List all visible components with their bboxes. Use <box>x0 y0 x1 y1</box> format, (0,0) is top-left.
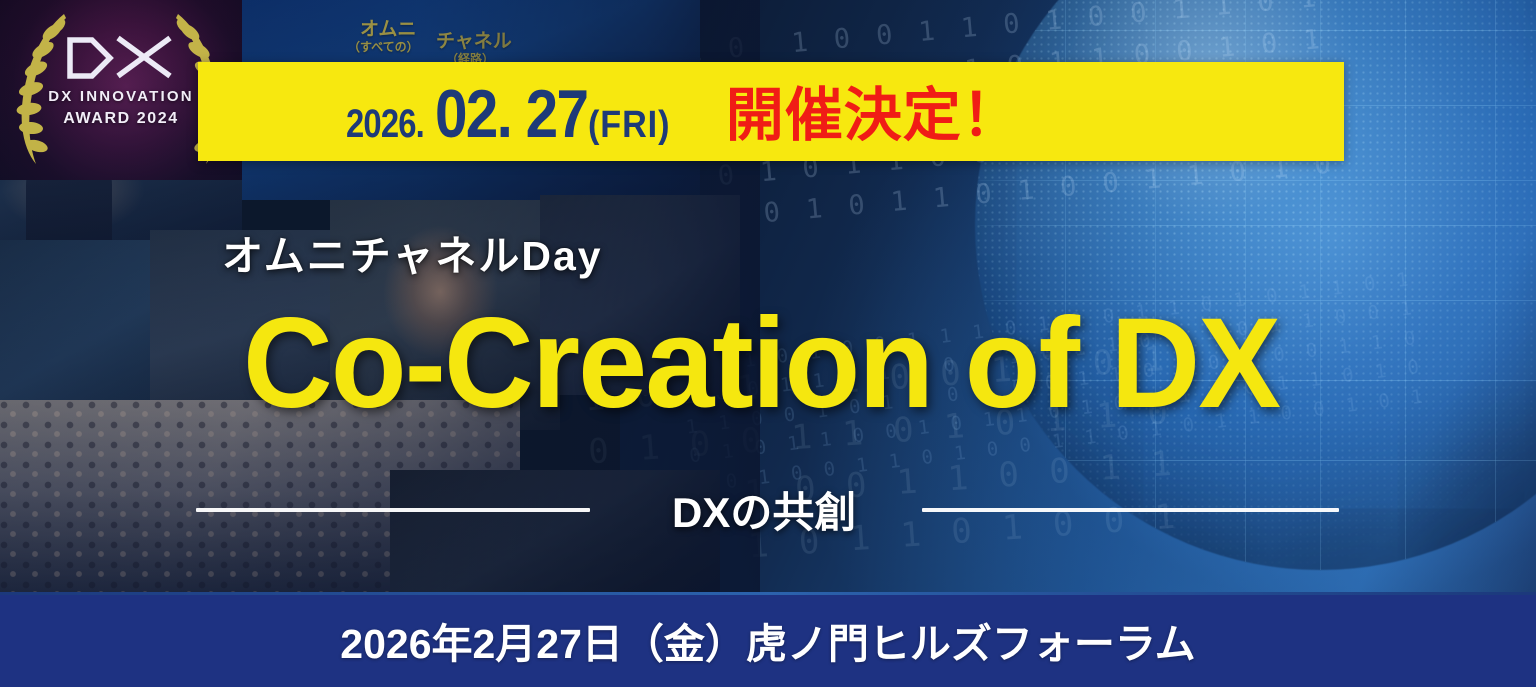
event-date-group: 2026. 02. 27 (FRI) 開催決定！ <box>346 70 1021 154</box>
divider-rule-left <box>196 508 590 512</box>
dx-innovation-logo-icon <box>62 26 180 82</box>
divider-rule-right <box>922 508 1339 512</box>
event-month-day: 02. 27 <box>435 75 587 153</box>
venue-info-text: 2026年2月27日（金）虎ノ門ヒルズフォーラム <box>340 610 1195 670</box>
event-day-of-week: (FRI) <box>588 104 670 147</box>
event-year: 2026. <box>346 102 424 147</box>
event-banner: 1 0 1 1 0 1 0 0 1 1 0 1 0 0 1 1 0 1 0 1 … <box>0 0 1536 687</box>
bar-top-accent-line <box>0 592 1536 595</box>
date-announcement-banner: 2026. 02. 27 (FRI) 開催決定！ <box>198 62 1344 161</box>
venue-info-bar: 2026年2月27日（金）虎ノ門ヒルズフォーラム <box>0 592 1536 687</box>
event-headline: Co-Creation of DX <box>243 300 1279 428</box>
event-subtitle: DXの共創 <box>672 479 856 540</box>
event-kicker-title: オムニチャネルDay <box>222 222 603 282</box>
event-status-text: 開催決定！ <box>726 68 1021 152</box>
